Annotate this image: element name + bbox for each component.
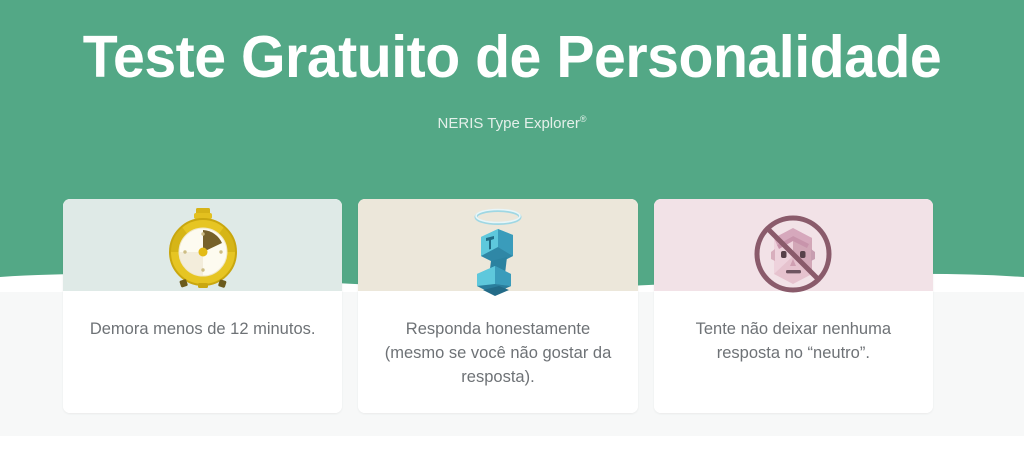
info-card-honesty[interactable]: Responda honestamente (mesmo se você não… <box>358 199 637 413</box>
angel-honesty-icon <box>455 204 541 300</box>
card-icon-area <box>358 199 637 291</box>
timer-icon <box>160 204 246 300</box>
info-card-no-neutral[interactable]: Tente não deixar nenhuma resposta no “ne… <box>654 199 933 413</box>
no-neutral-face-icon <box>750 204 836 300</box>
page-subtitle: NERIS Type Explorer® <box>0 114 1024 134</box>
card-icon-area <box>654 199 933 291</box>
info-card-row: Demora menos de 12 minutos. <box>63 199 933 413</box>
page-root: Teste Gratuito de Personalidade NERIS Ty… <box>0 0 1024 453</box>
registered-mark: ® <box>580 114 587 124</box>
card-text-area: Responda honestamente (mesmo se você não… <box>358 291 637 413</box>
card-icon-area <box>63 199 342 291</box>
card-text-area: Tente não deixar nenhuma resposta no “ne… <box>654 291 933 413</box>
card-caption: Responda honestamente (mesmo se você não… <box>374 317 621 389</box>
card-caption: Tente não deixar nenhuma resposta no “ne… <box>670 317 917 365</box>
card-text-area: Demora menos de 12 minutos. <box>63 291 342 413</box>
card-caption: Demora menos de 12 minutos. <box>90 317 316 341</box>
page-footer-white <box>0 436 1024 453</box>
info-card-timer[interactable]: Demora menos de 12 minutos. <box>63 199 342 413</box>
page-title: Teste Gratuito de Personalidade <box>15 22 1008 92</box>
subtitle-text: NERIS Type Explorer <box>438 115 580 132</box>
